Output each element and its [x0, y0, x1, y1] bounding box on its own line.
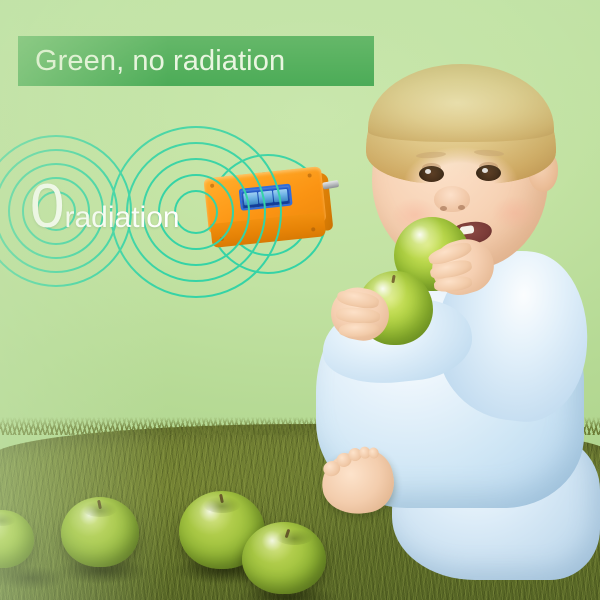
headline-banner: Green, no radiation [18, 36, 374, 86]
baby-eye-right [476, 165, 501, 181]
radiation-word: radiation [64, 203, 179, 233]
baby-nostril-left [440, 206, 447, 211]
apple-dimple [276, 529, 313, 545]
headline-text: Green, no radiation [18, 45, 285, 78]
apple-dimple [83, 501, 117, 516]
apple-dimple [203, 496, 241, 513]
baby-cheek-right [492, 196, 538, 230]
baby-toe [368, 446, 380, 459]
apple-left [61, 497, 139, 567]
apple-dimple [0, 513, 16, 526]
device-screw [311, 227, 315, 231]
promo-banner-scene: 0 radiation Green, no radiation [0, 0, 600, 600]
baby-eye-left [419, 166, 444, 182]
device-screw [307, 173, 311, 177]
baby-nostril-right [458, 205, 465, 210]
apple-stem [391, 275, 395, 283]
zero-radiation-lockup: 0 radiation [30, 176, 180, 238]
zero-digit: 0 [30, 176, 63, 238]
apple-front-right [242, 522, 326, 594]
